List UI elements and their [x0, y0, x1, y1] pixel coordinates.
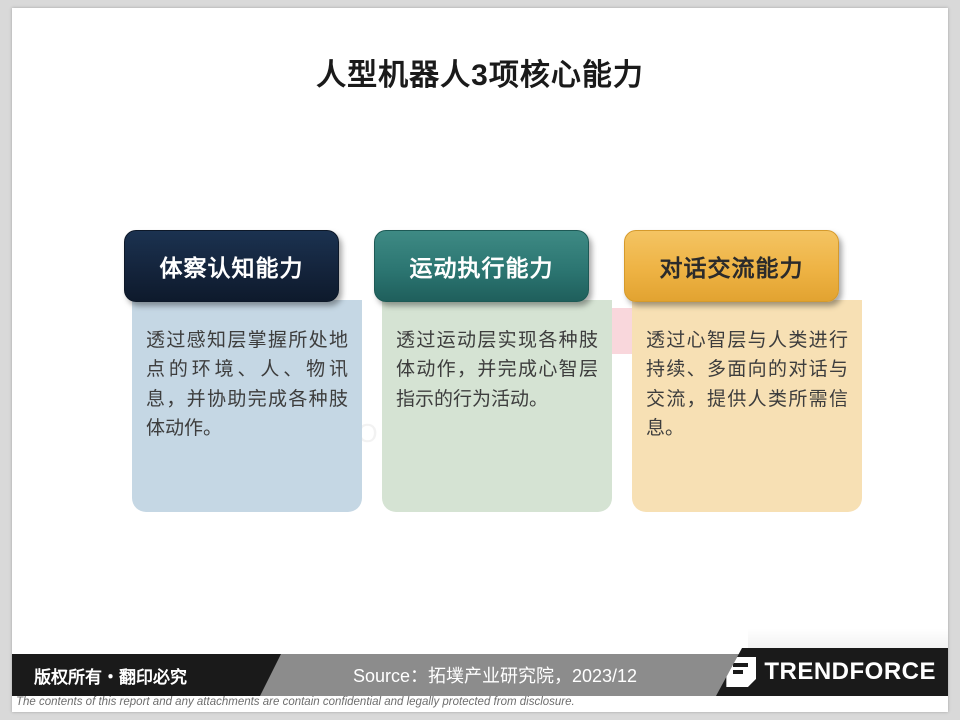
page-title: 人型机器人3项核心能力 [12, 50, 948, 94]
capability-heading-2: 运动执行能力 [374, 230, 589, 302]
capability-heading-3: 对话交流能力 [624, 230, 839, 302]
copyright-tab: 版权所有‧翻印必究 [12, 654, 260, 696]
capability-card-1: 透过感知层掌握所处地点的环境、人、物讯息，并协助完成各种肢体动作。 [132, 300, 362, 512]
capability-body-3: 透过心智层与人类进行持续、多面向的对话与交流，提供人类所需信息。 [646, 326, 848, 444]
capability-card-2: 透过运动层实现各种肢体动作，并完成心智层指示的行为活动。 [382, 300, 612, 512]
capability-card-3: 透过心智层与人类进行持续、多面向的对话与交流，提供人类所需信息。 [632, 300, 862, 512]
capability-body-2: 透过运动层实现各种肢体动作，并完成心智层指示的行为活动。 [396, 326, 598, 414]
disclaimer-text: The contents of this report and any atta… [12, 696, 948, 712]
source-note: Source：拓墣产业研究院，2023/12 [260, 654, 730, 696]
slide: 人型机器人3项核心能力 TF TRENDFORCE 透过感知层掌握所处地点的环境… [12, 8, 948, 712]
brand-logo: TRENDFORCE [716, 648, 948, 696]
capability-heading-1: 体察认知能力 [124, 230, 339, 302]
brand-name: TRENDFORCE [764, 658, 936, 686]
capability-body-1: 透过感知层掌握所处地点的环境、人、物讯息，并协助完成各种肢体动作。 [146, 326, 348, 444]
